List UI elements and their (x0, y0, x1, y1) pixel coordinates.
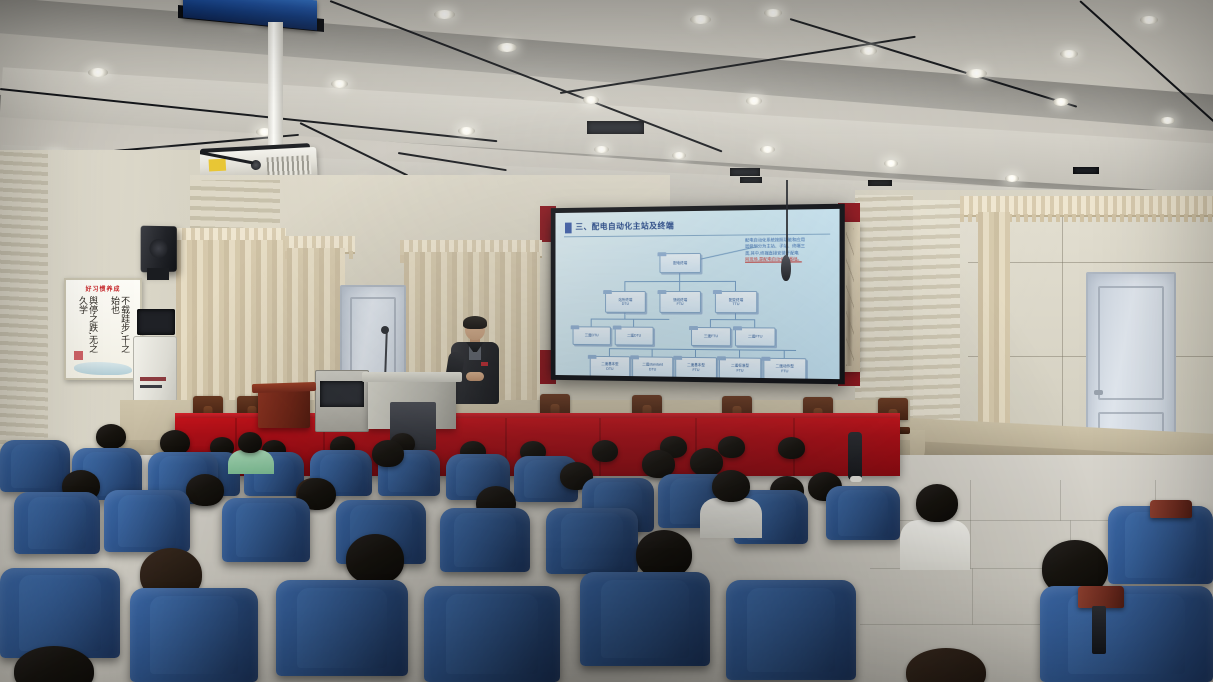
ac-grill-icon (137, 309, 175, 335)
tree-connector (633, 319, 634, 327)
audience-head (372, 440, 404, 467)
tree-node-label: 二遥DTU (627, 334, 641, 339)
hanging-microphone[interactable] (781, 255, 791, 281)
tree-node-l3: 二遥DTU (615, 327, 654, 346)
ceiling-light (760, 146, 775, 153)
tree-node-sub: DTU (606, 366, 613, 371)
ceiling-vent (1073, 167, 1099, 174)
audience-head (636, 530, 692, 578)
audience-seat[interactable] (424, 586, 560, 682)
door-panel-inset-top (1098, 286, 1164, 400)
slide-title: 三、配电自动化主站及终端 (575, 220, 674, 232)
slide-surface: 三、配电自动化主站及终端 配电自动化系统按照功能和应用 层级划分为主站、子站、终… (556, 209, 840, 379)
tree-connector (735, 281, 736, 291)
podium-top (362, 372, 462, 382)
tree-node-l2: 站所终端 DTU (605, 291, 646, 313)
ceiling-light (884, 160, 898, 167)
ceiling-light (860, 47, 877, 55)
seat-armrest-post (1092, 606, 1106, 654)
audience-shoulders-white (900, 520, 970, 570)
ceiling-light (594, 146, 609, 153)
seat-armrest (1078, 586, 1124, 608)
audience-head (346, 534, 404, 584)
presenter-hair (463, 316, 487, 329)
audience-seat[interactable] (580, 572, 710, 666)
ac-label-stripe (140, 377, 166, 381)
ceiling-vent (730, 168, 760, 176)
tree-node-l4: 二遥标准型 FTU (719, 357, 761, 379)
wall-left-slat-panel (0, 150, 48, 480)
ceiling-light (331, 80, 348, 88)
audience-shoulders-white (700, 498, 762, 538)
tree-node-sub: DTU (649, 367, 656, 372)
tree-node-l3: 二遥FTU (735, 327, 776, 347)
tree-node-label: 二遥FTU (748, 335, 762, 340)
ceiling-light (1140, 16, 1158, 24)
ceiling-light (583, 96, 599, 104)
ceiling-light (672, 152, 686, 159)
ceiling-light (1053, 98, 1069, 106)
tree-connector (652, 349, 653, 357)
speaker-cone-icon (149, 239, 167, 258)
tree-connector (624, 281, 625, 291)
ceiling-light (434, 10, 455, 19)
audience-head (712, 470, 750, 502)
audience-seat[interactable] (546, 508, 638, 574)
audience-head (186, 474, 224, 506)
slide-title-accent-bar (565, 223, 572, 234)
presenter (448, 318, 502, 404)
presenter-hands (466, 372, 484, 381)
tree-node-sub: FTU (781, 369, 788, 374)
tree-node-sub: FTU (736, 368, 743, 373)
tree-connector (591, 319, 592, 327)
tree-connector (609, 348, 707, 350)
wall-speaker-bracket (147, 268, 169, 280)
projector-mount-pole (268, 22, 283, 156)
ceiling-light (1160, 117, 1175, 124)
audience-head (592, 440, 618, 462)
wall-seam (1062, 198, 1063, 463)
poster-column: 不载跬步,千之始也 (109, 296, 129, 360)
tree-connector (624, 281, 736, 282)
audience-head (238, 432, 262, 453)
tree-node-l2: 配变终端 TTU (715, 291, 757, 313)
ceiling-light (88, 68, 108, 77)
ceiling-light (458, 127, 475, 135)
rack-front-panel (320, 381, 364, 407)
wooden-lectern[interactable] (258, 388, 310, 428)
equipment-rack[interactable] (315, 370, 369, 432)
ceiling-light (497, 43, 517, 52)
ceiling-vent (868, 180, 892, 186)
poster-title: 好习惯养成 (85, 284, 120, 293)
tree-node-label: 三遥DTU (585, 333, 599, 338)
audience-seat[interactable] (104, 490, 190, 552)
ac-label-stripe-secondary (140, 385, 162, 388)
tree-node-l3: 三遥FTU (691, 327, 731, 346)
ceiling-light (690, 15, 711, 24)
tree-node-l2: 馈线终端 FTU (659, 291, 700, 313)
standing-person-legs (848, 432, 862, 480)
audience-seat[interactable] (276, 580, 408, 676)
ceiling-light (966, 69, 987, 78)
tree-node-root: 配电终端 (659, 253, 700, 273)
tree-node-l4: 二遥standard DTU (632, 356, 673, 377)
tree-node-l4: 二遥动作型 FTU (763, 358, 806, 379)
ceiling-light (764, 9, 782, 17)
audience-seat[interactable] (222, 498, 310, 562)
ceiling-light (1005, 175, 1019, 182)
audience-seat[interactable] (14, 492, 100, 554)
projector-vent-icon (267, 155, 312, 176)
tree-node-l3: 三遥DTU (573, 326, 611, 345)
wall-speaker (141, 226, 177, 273)
tree-connector (710, 319, 754, 320)
audience-seat[interactable] (0, 440, 70, 492)
hanging-mic-cable (786, 180, 788, 260)
projector-label (209, 159, 227, 172)
presenter-badge (481, 362, 488, 366)
audience-seat[interactable] (0, 568, 120, 658)
audience-head (690, 448, 723, 476)
tree-connector (695, 349, 796, 351)
audience-shoulders-green (228, 450, 274, 474)
wall-poster-framed: 好习惯养成 不载跬步,千之始也 舆停之跌,无之久学 (64, 278, 142, 380)
podium-microphone-icon[interactable] (381, 326, 389, 334)
tree-node-sub: DTU (622, 302, 629, 306)
ceiling-light (1060, 50, 1078, 58)
seat-armrest (1150, 500, 1192, 518)
tree-connector (679, 281, 680, 291)
audience-seat[interactable] (826, 486, 900, 540)
ceiling-vent (740, 177, 762, 183)
tree-connector (591, 319, 670, 320)
tree-connector (609, 348, 610, 356)
tree-connector (754, 319, 755, 327)
tree-node-label: 三遥FTU (704, 334, 718, 339)
tree-connector (710, 319, 711, 327)
door-handle-icon[interactable] (1094, 390, 1103, 395)
tree-connector (695, 349, 696, 357)
tree-node-label: 配电终端 (673, 261, 687, 266)
tree-connector (739, 349, 740, 357)
audience-seat[interactable] (726, 580, 856, 680)
audience-seat[interactable] (440, 508, 530, 572)
standing-person-shoe (850, 476, 862, 482)
tree-node-l4: 二遥基本型 DTU (590, 356, 630, 377)
ceiling-vent (587, 121, 644, 134)
poster-wave-graphic (74, 362, 132, 375)
audience-head (778, 437, 805, 459)
tree-connector (784, 350, 785, 358)
ceiling-light (746, 97, 762, 105)
audience-head (916, 484, 958, 522)
scroll-right-ink (846, 228, 854, 366)
tree-node-l4: 二遥基本型 FTU (675, 357, 717, 379)
projection-screen[interactable]: 三、配电自动化主站及终端 配电自动化系统按照功能和应用 层级划分为主站、子站、终… (551, 204, 845, 385)
audience-seat[interactable] (130, 588, 258, 682)
tree-node-sub: FTU (677, 302, 684, 306)
tree-node-sub: FTU (693, 367, 700, 372)
audience-head (718, 436, 745, 458)
lecture-hall-photo: 好习惯养成 不载跬步,千之始也 舆停之跌,无之久学 三、配电自动化主站及终端 配… (0, 0, 1213, 682)
poster-seal-icon (74, 351, 83, 360)
tree-node-sub: TTU (732, 302, 739, 307)
audience-head (96, 424, 126, 449)
aisle-seat[interactable] (1040, 586, 1213, 682)
